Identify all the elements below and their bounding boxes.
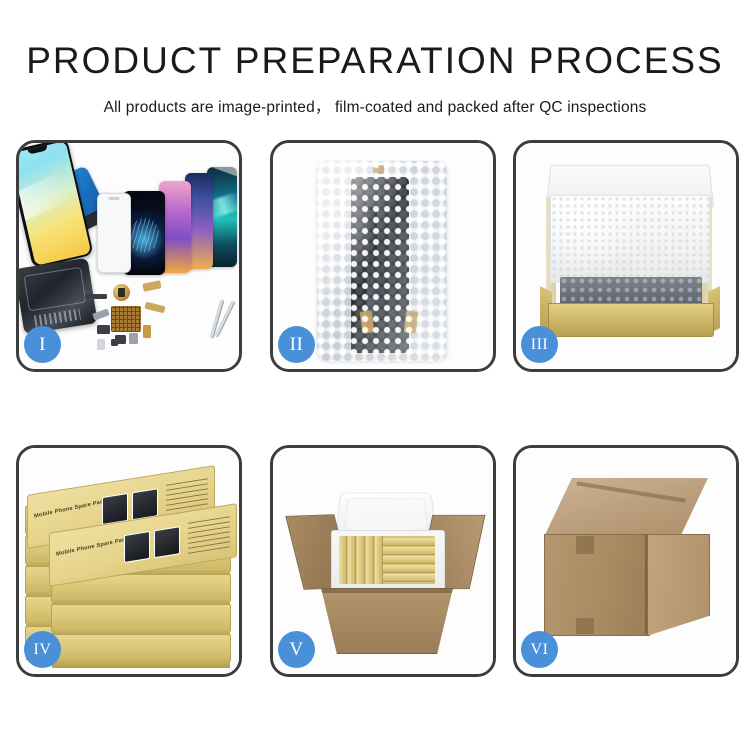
carton-tape-patch [576, 618, 594, 634]
white-foam-sheet [550, 195, 710, 283]
tempered-glass-screen-protector [97, 193, 131, 273]
carton-loading-image: V [273, 448, 493, 674]
page-subtitle: All products are image-printed， film-coa… [0, 79, 750, 117]
vibration-motor-part [113, 284, 130, 301]
step-badge-6: VI [521, 631, 558, 668]
process-step-card-4: Mobile Phone Spare Parts Mobile Phone Sp… [16, 445, 242, 677]
grey-bubble-wrap-contents [560, 277, 702, 305]
flex-cable-component [144, 302, 165, 314]
product-collage-image: I [19, 143, 239, 369]
small-component [97, 339, 105, 350]
bubble-wrap-packing-image: II [273, 143, 493, 369]
carton-top-face [544, 478, 708, 537]
carton-front-face [544, 534, 650, 636]
box-window-graphic [154, 526, 180, 558]
step-badge-5: V [278, 631, 315, 668]
phone-wallpaper [16, 141, 91, 266]
carton-side-face [647, 534, 710, 636]
plastic-sheen [317, 161, 447, 361]
stacked-boxes: Mobile Phone Spare Parts Mobile Phone Sp… [25, 470, 237, 666]
yellow-boxes-inside [339, 536, 435, 584]
bubble-wrap-bag [317, 161, 447, 361]
box-brand-label: Mobile Phone Spare Parts [56, 536, 130, 557]
box-spec-text-block [188, 513, 230, 554]
small-component [143, 325, 151, 338]
flex-cable-component [142, 280, 161, 292]
header: PRODUCT PREPARATION PROCESS All products… [0, 0, 750, 117]
sealed-carton-image: VI [516, 448, 736, 674]
process-step-card-2: II [270, 140, 496, 372]
box-layer [51, 604, 231, 632]
carton-vertical-edge [645, 534, 647, 634]
page-title: PRODUCT PREPARATION PROCESS [0, 0, 750, 79]
process-step-card-1: I [16, 140, 242, 372]
box-stack-image: Mobile Phone Spare Parts Mobile Phone Sp… [19, 448, 239, 674]
step-badge-4: IV [24, 631, 61, 668]
step-badge-2: II [278, 326, 315, 363]
process-step-card-5: V [270, 445, 496, 677]
logic-board-part [111, 306, 141, 332]
process-step-card-3: III [513, 140, 739, 372]
box-front-panel [548, 303, 714, 337]
step-badge-3: III [521, 326, 558, 363]
process-step-grid: I II III [16, 140, 738, 680]
small-component [97, 325, 110, 334]
small-component [129, 333, 138, 344]
tweezers-tool [205, 299, 242, 343]
box-window-graphic [124, 531, 150, 563]
step-badge-1: I [24, 326, 61, 363]
carton-body [321, 588, 453, 654]
inner-box-foam-image: III [516, 143, 736, 369]
box-brand-label: Mobile Phone Spare Parts [34, 498, 108, 519]
small-component [111, 339, 118, 346]
phone-front-large [16, 140, 94, 268]
box-layer [51, 634, 231, 662]
small-component [85, 294, 107, 299]
carton-tape-patch [576, 536, 594, 554]
process-step-card-6: VI [513, 445, 739, 677]
